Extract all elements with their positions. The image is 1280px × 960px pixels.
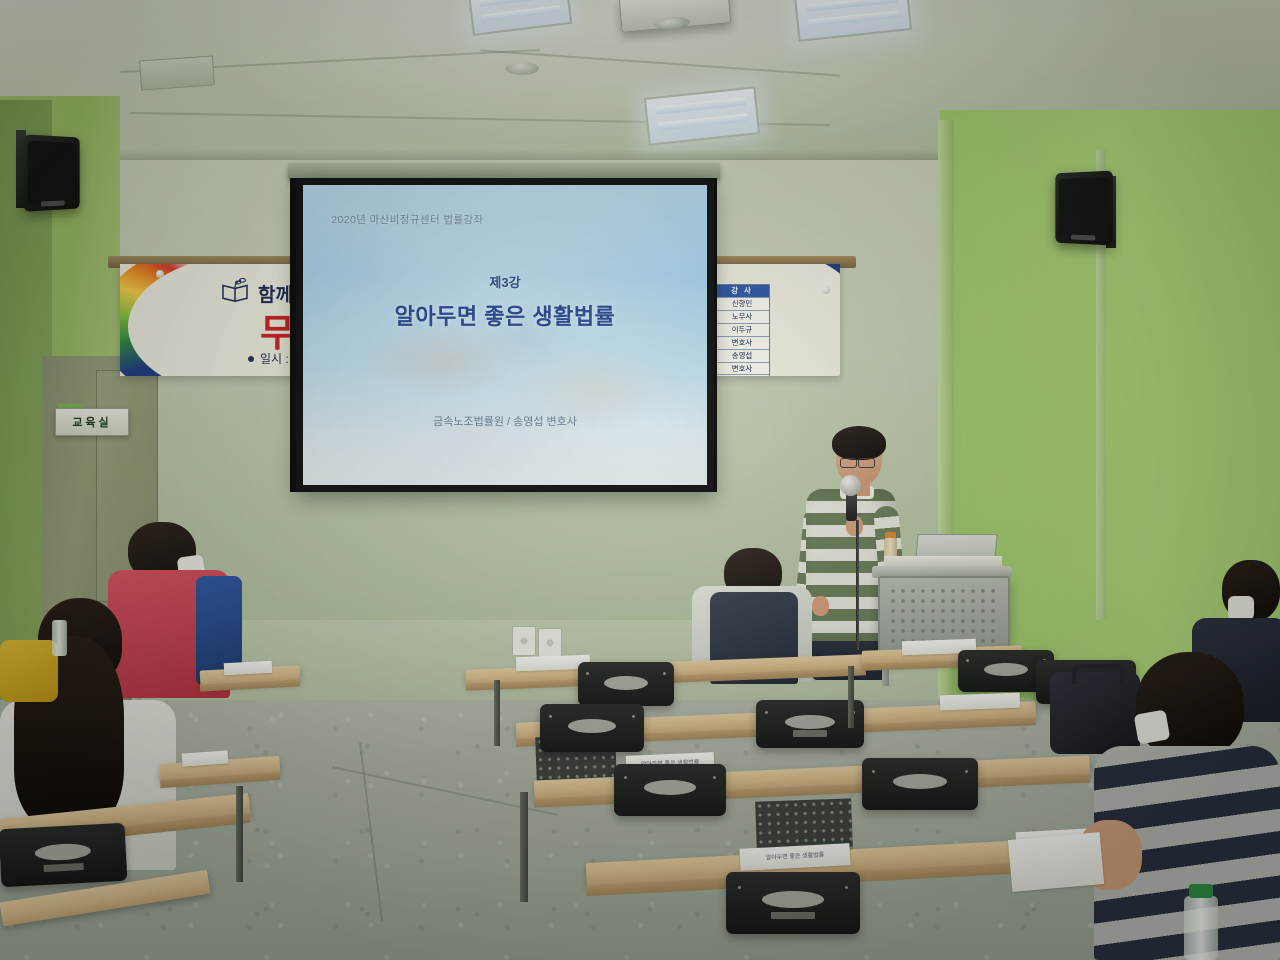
lecturer-row: 변호사 (715, 336, 769, 349)
lecturer-table: 강 사 신향민 노무사 이두규 변호사 송영섭 변호사 하종강 교 수 (714, 284, 770, 376)
microphone-cable (856, 520, 859, 650)
backpack-handle (1072, 664, 1124, 684)
presenter-glasses (840, 458, 857, 468)
banner-grommet (156, 270, 164, 278)
slide-footer: 금속노조법률원 / 송영섭 변호사 (303, 413, 707, 429)
slide-title: 알아두면 좋은 생활법률 (303, 299, 707, 331)
presenter-left-hand (812, 596, 829, 616)
power-outlet[interactable] (512, 626, 536, 656)
lecturer-row: 노무사 (715, 310, 769, 323)
lecturer-table-header: 강 사 (715, 285, 769, 297)
handout-paper (224, 661, 273, 675)
chair[interactable] (540, 704, 644, 752)
lecture-room-photo: 교육실 함께 읽 무 일시 : 2 강 사 신향민 노무사 이두규 (0, 0, 1280, 960)
desk-leg (848, 666, 854, 728)
presenter-glasses (858, 458, 875, 468)
room-sign: 교육실 (55, 408, 129, 436)
small-bottle (52, 620, 67, 656)
power-outlet[interactable] (538, 628, 562, 658)
face-mask (1228, 596, 1254, 620)
slide-lecture-number: 제3강 (303, 272, 707, 291)
face-mask (1134, 709, 1171, 744)
lecturer-row: 송영섭 (715, 349, 769, 362)
ceiling-vent (139, 55, 215, 90)
chair[interactable] (0, 823, 127, 888)
podium-perforation (888, 586, 1000, 646)
water-bottle-cap (1189, 884, 1213, 898)
chair[interactable] (862, 758, 978, 810)
smoke-detector-icon (505, 62, 539, 75)
lecturer-row: 신향민 (715, 297, 769, 310)
desk-leg (236, 786, 243, 882)
wall-speaker-left (24, 134, 80, 212)
handout-paper (940, 693, 1020, 711)
open-book-icon (220, 278, 250, 302)
water-bottle (1184, 896, 1218, 960)
desk-leg (520, 792, 528, 902)
microphone-head-icon (840, 475, 861, 496)
room-sign-label: 교육실 (72, 414, 111, 430)
presenter-hair (832, 426, 886, 460)
lecturer-row: 하종강 (715, 374, 769, 376)
banner-grommet (822, 286, 830, 294)
banner-bullet-icon (248, 356, 254, 362)
chair[interactable] (578, 662, 674, 706)
handout-paper (1008, 832, 1104, 892)
chair[interactable] (726, 872, 860, 934)
yellow-bag (0, 640, 58, 702)
slide-content: 2020년 마산비정규센터 법률강좌 제3강 알아두면 좋은 생활법률 금속노조… (303, 185, 707, 485)
wall-speaker-right (1055, 171, 1113, 246)
lecturer-row: 변호사 (715, 362, 769, 375)
lecturer-row: 이두규 (715, 323, 769, 336)
handout-text: 알아두면 좋은 생활법률 (765, 849, 824, 861)
slide-header: 2020년 마산비정규센터 법률강좌 (331, 212, 483, 227)
chair[interactable] (614, 764, 726, 816)
backpack (1050, 672, 1140, 754)
desk-leg (494, 680, 500, 746)
